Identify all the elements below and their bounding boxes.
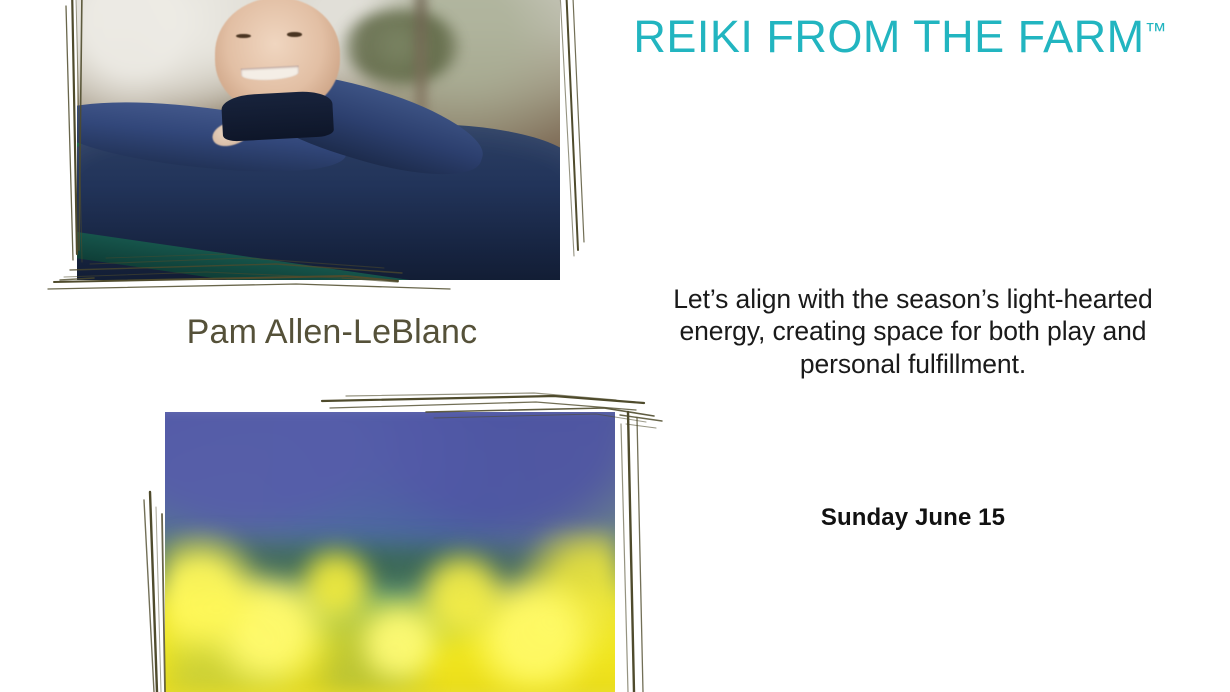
flower-photo-block — [134, 392, 664, 692]
page-title: REIKI FROM THE FARM™ — [620, 12, 1180, 62]
photo-eye-right — [287, 32, 302, 37]
slide-canvas: REIKI FROM THE FARM™ — [0, 0, 1230, 691]
lede-paragraph: Let’s align with the season’s light-hear… — [660, 283, 1166, 380]
event-date: Sunday June 15 — [660, 504, 1166, 532]
flower-blooms — [165, 530, 615, 692]
flower-photo — [165, 412, 615, 692]
speaker-portrait-block — [46, 0, 591, 302]
photo-collar — [221, 90, 334, 142]
brand-title-text: REIKI FROM THE FARM — [633, 11, 1144, 62]
speaker-photo-scene — [77, 0, 560, 280]
trademark-icon: ™ — [1145, 18, 1167, 43]
speaker-name: Pam Allen-LeBlanc — [46, 313, 618, 352]
speaker-photo — [77, 0, 560, 280]
